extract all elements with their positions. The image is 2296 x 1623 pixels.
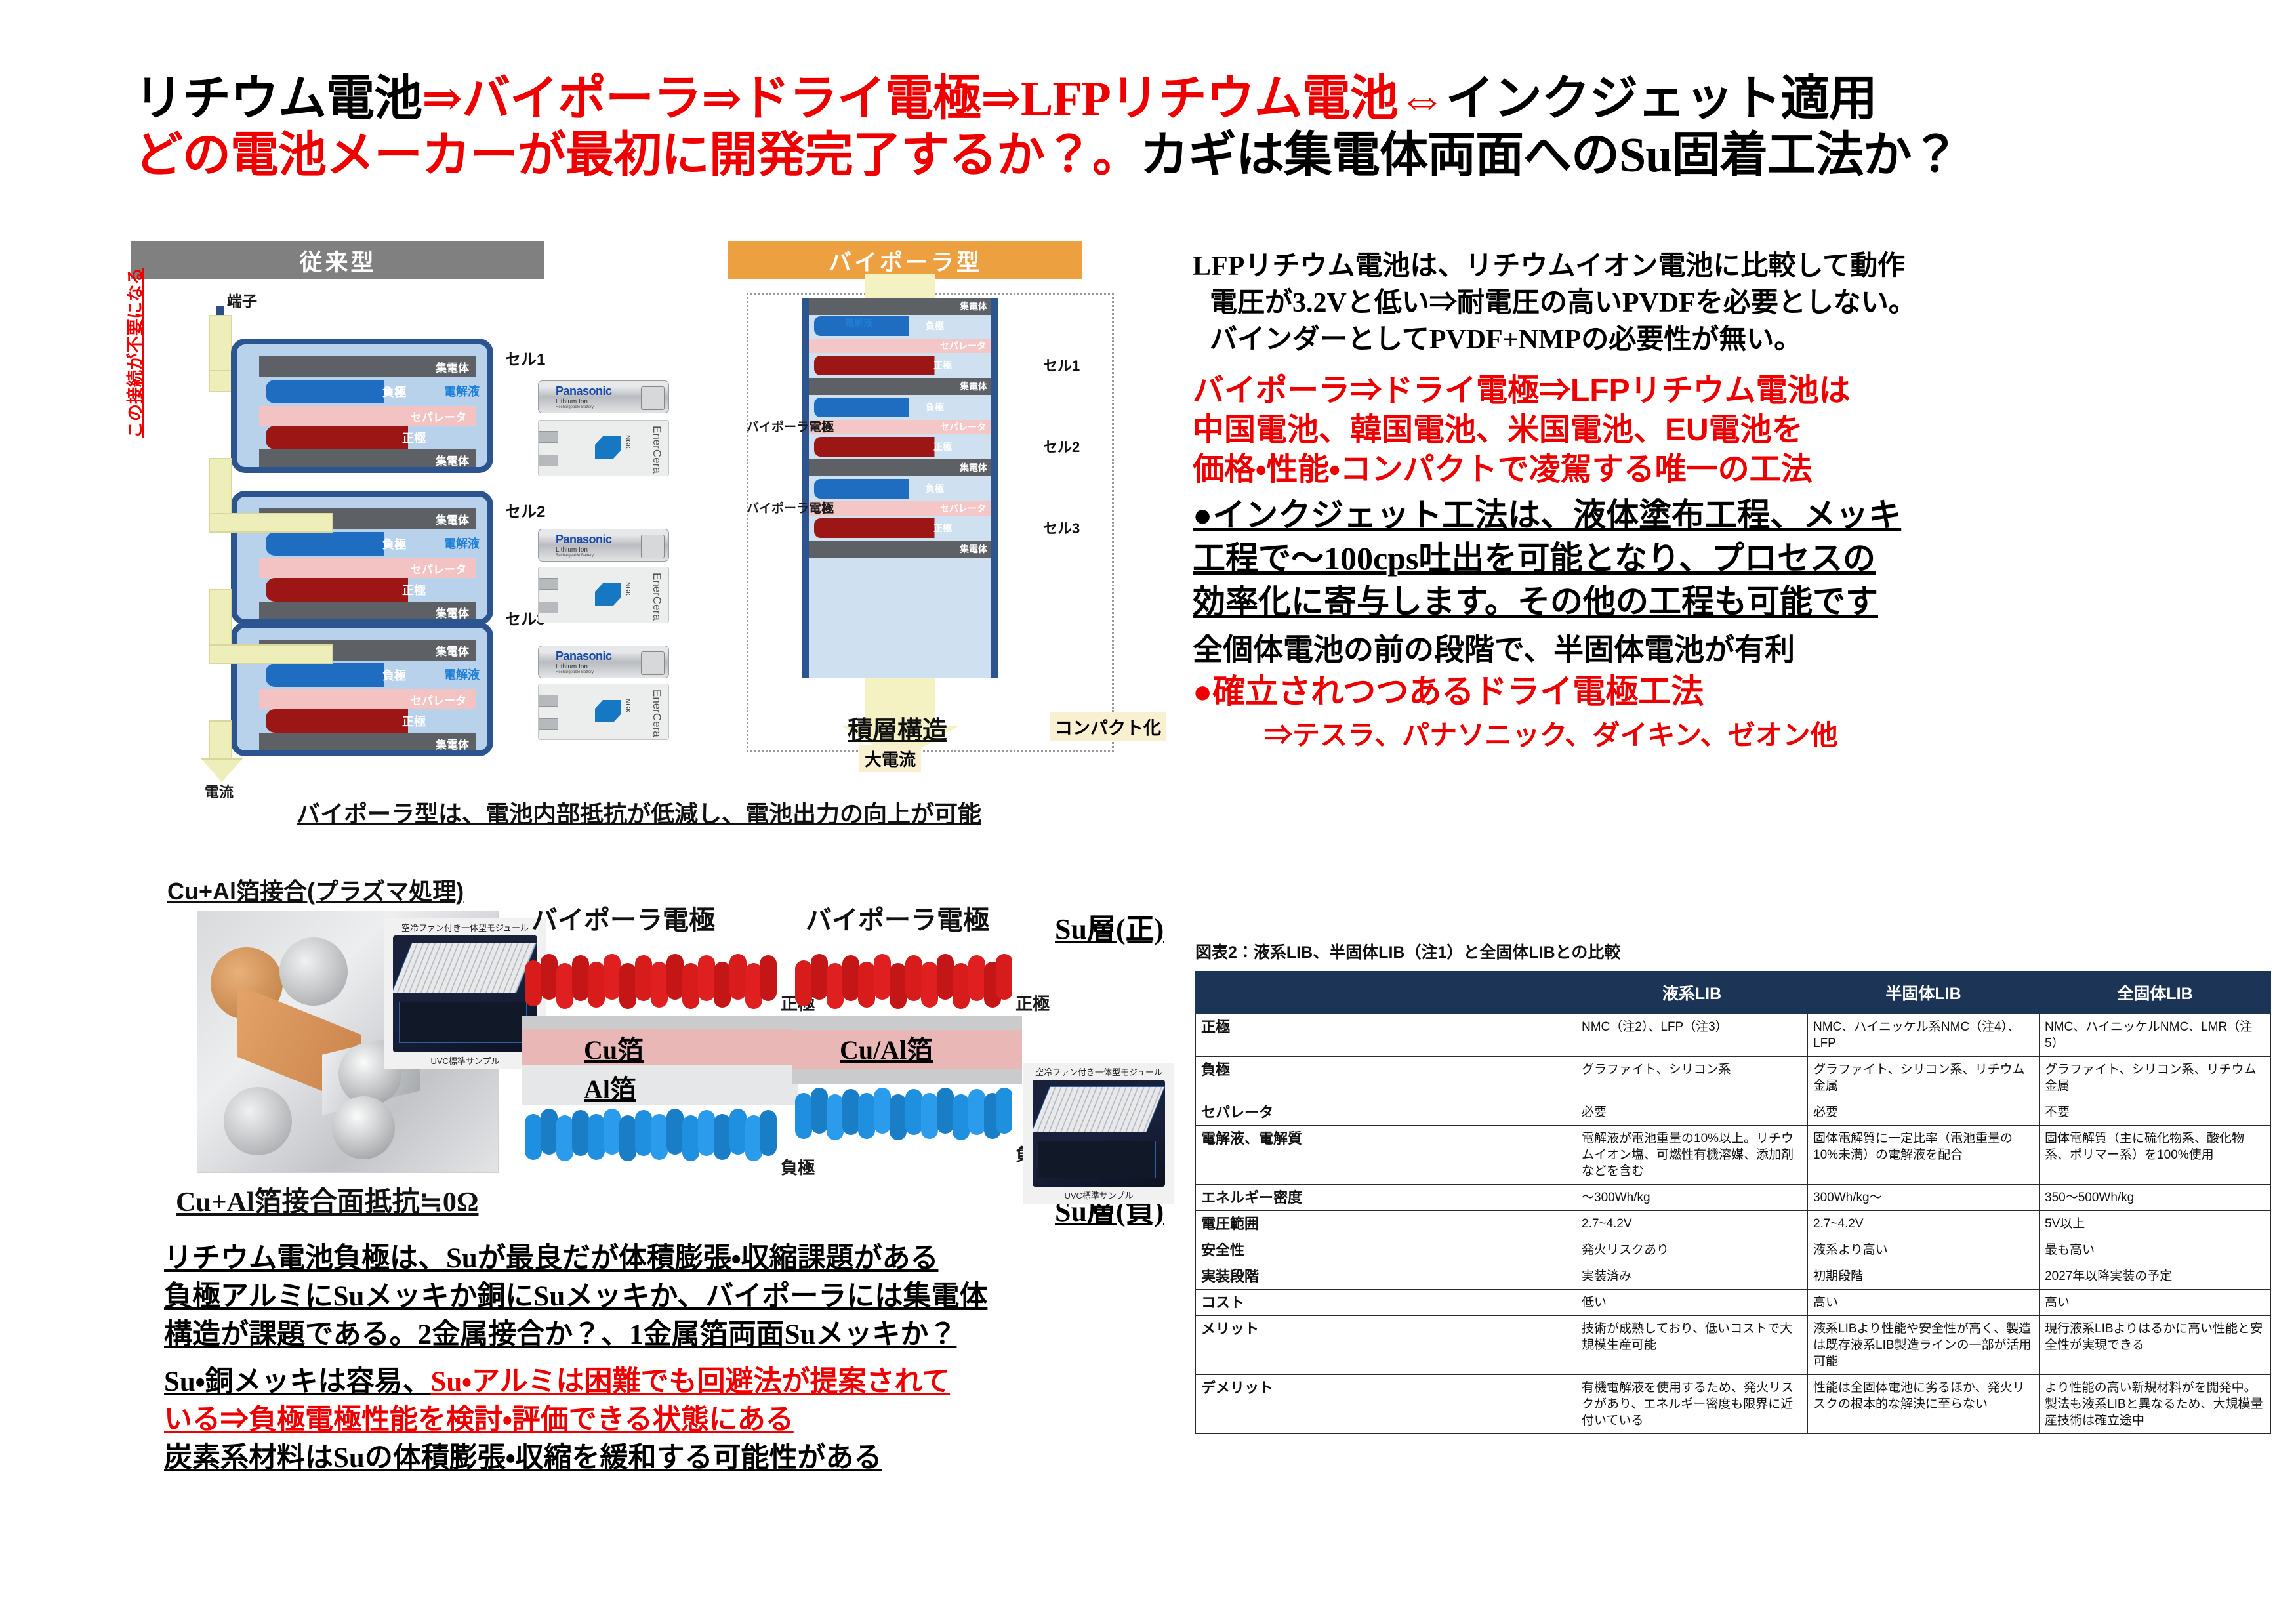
conventional-cell-1: 集電体 負極 電解液 セパレータ 正極 集電体 <box>231 339 493 473</box>
right-p3-line2: 工程で～100cps吐出を可能となり、プロセスの <box>1193 537 2282 580</box>
cell2-collector-bottom: 集電体 <box>259 602 476 623</box>
bp-anode-2: 負極 <box>814 398 986 417</box>
table-row-header: 正極 <box>1196 1014 1576 1057</box>
cual-foil-label: Cu/Al箔 <box>840 1029 933 1067</box>
table-row: 正極NMC（注2）、LFP（注3）NMC、ハイニッケル系NMC（注4）、LFPN… <box>1196 1014 2271 1057</box>
anode-particles-right <box>795 1088 1012 1151</box>
right-p1-line2: 電圧が3.2Vと低い⇒耐電圧の高いPVDFを必要としない。 <box>1193 285 2282 321</box>
table-row: セパレータ必要必要不要 <box>1196 1099 2271 1126</box>
table-cell: 2027年以降実装の予定 <box>2040 1263 2271 1290</box>
bipolar-electrode-title-right: バイポーラ電極 <box>806 899 989 937</box>
ngk-enercera-photo-3: NGK EnerCera <box>538 684 669 740</box>
bp-anode-3: 負極 <box>814 479 986 499</box>
ngk-logo-icon-3 <box>595 700 621 722</box>
table-cell: 5V以上 <box>2040 1211 2271 1237</box>
panasonic-sub-1: Lithium Ion <box>556 398 588 405</box>
uvc-caption-top-2: 空冷ファン付き一体型モジュール <box>1023 1065 1174 1078</box>
note-line-6: 炭素系材料はSuの体積膨張・収縮を緩和する可能性がある <box>164 1439 1187 1477</box>
cell1-collector-top: 集電体 <box>259 356 476 377</box>
bipolar-benefit-caption: バイポーラ型は、電池内部抵抗が低減し、電池出力の向上が可能 <box>297 795 981 829</box>
note-line-2: 負極アルミにSuメッキか銅にSuメッキか、バイポーラには集電体 <box>164 1278 1187 1316</box>
table-col-header-0 <box>1196 972 1576 1014</box>
bp-separator-2: セパレータ <box>809 420 991 434</box>
anode-label-left: 負極 <box>781 1155 815 1179</box>
table-row-header: 負極 <box>1196 1057 1576 1099</box>
right-commentary: LFPリチウム電池は、リチウムイオン電池に比較して動作 電圧が3.2Vと低い⇒耐… <box>1193 248 2282 754</box>
table-cell: 固体電解質（主に硫化物系、酸化物系、ポリマー系）を100%使用 <box>2040 1126 2271 1185</box>
right-p3-line1: ●インクジェット工法は、液体塗布工程、メッキ <box>1193 493 2282 537</box>
cell1-collector-bottom: 集電体 <box>259 449 476 470</box>
cell1-electrolyte-label: 電解液 <box>444 382 480 400</box>
table-cell: 最も高い <box>2040 1237 2271 1263</box>
ngk-logo-icon-1 <box>595 436 621 459</box>
table-row-header: 電解液、電解質 <box>1196 1126 1576 1185</box>
panasonic-brand-3: Panasonic <box>556 649 612 663</box>
right-p1-line1: LFPリチウム電池は、リチウムイオン電池に比較して動作 <box>1193 248 2282 285</box>
table-cell: 2.7~4.2V <box>1576 1211 1808 1237</box>
panasonic-cell-photo-1: Panasonic Lithium Ion Rechargeable Batte… <box>538 380 669 413</box>
stacked-structure-label: 積層構造 <box>848 710 947 746</box>
cell1-separator: セパレータ <box>259 406 476 426</box>
panasonic-cell-photo-3: Panasonic Lithium Ion Rechargeable Batte… <box>538 646 669 678</box>
table-cell: 低い <box>1576 1290 1808 1316</box>
ngk-tab-minus-3 <box>538 695 558 707</box>
table-row: メリット技術が成熟しており、低いコストで大規模生産可能液系LIBより性能や安全性… <box>1196 1316 2271 1375</box>
table-cell: 技術が成熟しており、低いコストで大規模生産可能 <box>1576 1316 1808 1375</box>
gray-layer-left-top <box>522 1016 798 1029</box>
table-cell: 液系LIBより性能や安全性が高く、製造は既存液系LIB製造ラインの一部が活用可能 <box>1808 1316 2040 1375</box>
note-line-1: リチウム電池負極は、Suが最良だが体積膨張・収縮課題がある <box>164 1240 1187 1278</box>
table-cell: 高い <box>1808 1290 2040 1316</box>
conventional-type-header: 従来型 <box>131 241 544 279</box>
su-layer-positive-label: Su層(正) <box>1055 905 1164 947</box>
battery-comparison-diagram: 従来型 バイポーラ型 この接続が不要になる 端子 集電体 負極 電解液 セパレー… <box>131 241 1181 773</box>
table-row-header: メリット <box>1196 1316 1576 1375</box>
page-title: リチウム電池⇒バイポーラ⇒ドライ電極⇒LFPリチウム電池⇔インクジェット適用 ど… <box>134 71 2181 184</box>
connection-unnecessary-note: この接続が不要になる <box>122 163 146 438</box>
note-line-4-black: Su・銅メッキは容易、 <box>164 1366 430 1397</box>
bp-separator-1: セパレータ <box>809 339 991 353</box>
table-cell: 液系より高い <box>1808 1237 2040 1263</box>
uvc-module-top-1 <box>393 943 537 993</box>
uvc-module-body-1 <box>393 935 537 1052</box>
aluminum-roll-icon <box>279 937 348 1006</box>
note-line-3: 構造が課題である。2金属接合か？、1金属箔両面Suメッキか？ <box>164 1316 1187 1354</box>
bp-anode-1: 負極 <box>814 316 986 336</box>
bp-collector-2: 集電体 <box>809 378 991 395</box>
table-cell: 2.7~4.2V <box>1808 1211 2040 1237</box>
interconnect-lead-1h <box>209 513 333 533</box>
ngk-tab-minus-2 <box>538 578 558 590</box>
panasonic-brand-2: Panasonic <box>556 533 612 546</box>
table-col-header-3: 全固体LIB <box>2040 972 2271 1014</box>
bipolar-electrode-label-2: バイポーラ電極 <box>747 499 834 516</box>
table-row: 電解液、電解質電解液が電池重量の10%以上。リチウムイオン塩、可燃性有機溶媒、添… <box>1196 1126 2271 1185</box>
cell-label-1: セル1 <box>505 346 545 369</box>
bp-cathode-2: 正極 <box>814 437 986 457</box>
ngk-brand-2: NGK <box>624 582 631 596</box>
ngk-tab-plus-1 <box>538 455 558 466</box>
output-roll-icon <box>224 1087 292 1155</box>
table-cell: 300Wh/kg～ <box>1808 1185 2040 1211</box>
bp-cell-label-3: セル3 <box>1043 517 1080 538</box>
bp-electrolyte-label: 電解液 <box>845 316 872 329</box>
title-l2-part1: どの電池メーカーが最初に開発完了するか？。 <box>134 129 1140 182</box>
table-cell: 初期段階 <box>1808 1263 2040 1290</box>
right-p5: ●確立されつつあるドライ電極工法 <box>1193 670 2282 712</box>
cell3-anode: 負極 <box>266 663 469 687</box>
table-row-header: セパレータ <box>1196 1099 1576 1126</box>
output-lead <box>209 720 232 760</box>
table-cell: グラファイト、シリコン系 <box>1576 1057 1808 1099</box>
cell2-separator: セパレータ <box>259 558 476 578</box>
cell1-cathode: 正極 <box>266 426 469 449</box>
table-cell: NMC（注2）、LFP（注3） <box>1576 1014 1808 1057</box>
lib-comparison-table-block: 図表2：液系LIB、半固体LIB（注1）と全固体LIBとの比較 液系LIB 半固… <box>1195 939 2271 1434</box>
table-cell: 現行液系LIBよりはるかに高い性能と安全性が実現できる <box>2040 1316 2271 1375</box>
lib-comparison-table: 液系LIB 半固体LIB 全固体LIB 正極NMC（注2）、LFP（注3）NMC… <box>1195 971 2271 1434</box>
table-row-header: 実装段階 <box>1196 1263 1576 1290</box>
table-row: 負極グラファイト、シリコン系グラファイト、シリコン系、リチウム金属グラファイト、… <box>1196 1057 2271 1099</box>
table-cell: 必要 <box>1576 1099 1808 1126</box>
cual-bonding-title: Cu+Al箔接合(プラズマ処理) <box>167 873 464 907</box>
table-col-header-1: 液系LIB <box>1576 972 1808 1014</box>
uvc-module-photo-2: 空冷ファン付き一体型モジュール UVC標準サンプル <box>1023 1063 1174 1204</box>
table-cell: 電解液が電池重量の10%以上。リチウムイオン塩、可燃性有機溶媒、添加剤などを含む <box>1576 1126 1808 1185</box>
current-arrow-icon <box>201 758 243 782</box>
cu-foil-band-left <box>522 1029 798 1065</box>
right-p2-line1: バイポーラ⇒ドライ電極⇒LFPリチウム電池は <box>1193 371 2282 411</box>
gray-layer-right-bottom <box>792 1069 1022 1084</box>
cell3-separator: セパレータ <box>259 689 476 709</box>
cell-label-2: セル2 <box>505 499 545 522</box>
bipolar-stack: 集電体 負極 セパレータ 正極 集電体 負極 セパレータ 正極 集電体 負極 セ… <box>802 298 998 678</box>
note-line-5: いる⇒負極電極性能を検討・評価できる状態にある <box>164 1401 1187 1439</box>
table-cell: より性能の高い新規材料がを開発中。製法も液系LIBと異なるため、大規模量産技術は… <box>2040 1375 2271 1434</box>
title-line-2: どの電池メーカーが最初に開発完了するか？。カギは集電体両面へのSu固着工法か？ <box>134 127 2181 184</box>
bipolar-electrode-label-1: バイポーラ電極 <box>747 417 834 435</box>
panasonic-sub2-1: Rechargeable Battery <box>556 405 594 409</box>
bottom-left-notes: リチウム電池負極は、Suが最良だが体積膨張・収縮課題がある 負極アルミにSuメッ… <box>164 1240 1187 1477</box>
cell1-anode: 負極 <box>266 380 469 403</box>
table-cell: 発火リスクあり <box>1576 1237 1808 1263</box>
ngk-brand-1: NGK <box>624 435 631 449</box>
ngk-tab-plus-2 <box>538 602 558 613</box>
table-cell: 固体電解質に一定比率（電池重量の10%未満）の電解液を配合 <box>1808 1126 2040 1185</box>
cu-foil-label: Cu箔 <box>584 1029 644 1067</box>
ngk-product-1: EnerCera <box>650 426 663 474</box>
note-line-4-red: Su・アルミは困難でも回避法が提案されて <box>430 1366 950 1397</box>
bp-collector-1: 集電体 <box>809 298 991 315</box>
bp-cathode-3: 正極 <box>814 518 986 538</box>
cathode-label-right: 正極 <box>1015 991 1050 1015</box>
uvc-caption-top-1: 空冷ファン付き一体型モジュール <box>384 921 546 934</box>
cell3-electrolyte-label: 電解液 <box>444 666 480 683</box>
ngk-enercera-photo-2: NGK EnerCera <box>538 567 669 623</box>
ngk-enercera-photo-1: NGK EnerCera <box>538 420 669 476</box>
title-l2-part2: カギは集電体両面へのSu固着工法か？ <box>1140 129 1959 182</box>
press-roll-bottom-icon <box>332 1096 395 1159</box>
conventional-cell-2: 集電体 負極 電解液 セパレータ 正極 集電体 <box>231 491 493 625</box>
ngk-logo-icon-2 <box>595 583 621 606</box>
note-line-4: Su・銅メッキは容易、Su・アルミは困難でも回避法が提案されて <box>164 1363 1187 1401</box>
cell2-anode: 負極 <box>266 532 469 556</box>
interconnect-lead-2h <box>209 644 333 664</box>
large-current-label: 大電流 <box>859 745 921 772</box>
bp-cathode-1: 正極 <box>814 356 986 375</box>
compact-label: コンパクト化 <box>1050 712 1166 741</box>
table-body: 正極NMC（注2）、LFP（注3）NMC、ハイニッケル系NMC（注4）、LFPN… <box>1196 1014 2271 1434</box>
table-cell: 不要 <box>2040 1099 2271 1126</box>
table-cell: NMC、ハイニッケル系NMC（注4）、LFP <box>1808 1014 2040 1057</box>
uvc-module-side-1 <box>399 1002 527 1043</box>
table-cell: 350～500Wh/kg <box>2040 1185 2271 1211</box>
table-row: コスト低い高い高い <box>1196 1290 2271 1316</box>
table-cell: 実装済み <box>1576 1263 1808 1290</box>
gray-layer-right-top <box>792 1016 1022 1030</box>
table-row: エネルギー密度～300Wh/kg300Wh/kg～350～500Wh/kg <box>1196 1185 2271 1211</box>
recycle-icon-1 <box>641 386 665 410</box>
table-cell: ～300Wh/kg <box>1576 1185 1808 1211</box>
conventional-cell-3: 集電体 負極 電解液 セパレータ 正極 集電体 <box>231 622 493 756</box>
table-row-header: 電圧範囲 <box>1196 1211 1576 1237</box>
title-l1-part2: ⇒バイポーラ⇒ドライ電極⇒LFPリチウム電池⇔ <box>422 72 1446 126</box>
current-label: 電流 <box>205 781 234 802</box>
ngk-product-2: EnerCera <box>650 573 663 621</box>
ngk-tab-minus-1 <box>538 431 558 443</box>
table-row: 安全性発火リスクあり液系より高い最も高い <box>1196 1237 2271 1263</box>
panasonic-sub2-3: Rechargeable Battery <box>556 670 594 674</box>
panasonic-sub-3: Lithium Ion <box>556 663 588 670</box>
bp-collector-4: 集電体 <box>809 541 991 558</box>
cell2-cathode: 正極 <box>266 578 469 602</box>
uvc-module-side-2 <box>1038 1141 1156 1178</box>
bp-collector-3: 集電体 <box>809 459 991 476</box>
cathode-particles-right <box>795 951 1012 1014</box>
right-p2-line3: 価格・性能・コンパクトで凌駕する唯一の工法 <box>1193 450 2282 489</box>
cell2-electrolyte-label: 電解液 <box>444 535 480 552</box>
table-cell: 必要 <box>1808 1099 2040 1126</box>
right-p3-line3: 効率化に寄与します。その他の工程も可能です <box>1193 580 2282 623</box>
terminal-label: 端子 <box>227 289 257 311</box>
table-cell: グラファイト、シリコン系、リチウム金属 <box>2040 1057 2271 1099</box>
panasonic-sub-2: Lithium Ion <box>556 546 588 554</box>
al-foil-band-left <box>522 1065 798 1105</box>
table-row: デメリット有機電解液を使用するため、発火リスクがあり、エネルギー密度も限界に近付… <box>1196 1375 2271 1434</box>
ngk-product-3: EnerCera <box>650 689 663 737</box>
table-cell: 性能は全固体電池に劣るほか、発火リスクの根本的な解決に至らない <box>1808 1375 2040 1434</box>
uvc-module-body-2 <box>1033 1080 1165 1187</box>
table-row: 電圧範囲2.7~4.2V2.7~4.2V5V以上 <box>1196 1211 2271 1237</box>
recycle-icon-2 <box>641 535 665 558</box>
bp-separator-3: セパレータ <box>809 501 991 516</box>
ngk-brand-3: NGK <box>624 699 631 713</box>
right-p2-line2: 中国電池、韓国電池、米国電池、EU電池を <box>1193 411 2282 450</box>
table-cell: 高い <box>2040 1290 2271 1316</box>
table-col-header-2: 半固体LIB <box>1808 972 2040 1014</box>
recycle-icon-3 <box>641 651 665 675</box>
bp-cell-label-1: セル1 <box>1043 354 1080 375</box>
table-row-header: 安全性 <box>1196 1237 1576 1263</box>
table-caption: 図表2：液系LIB、半固体LIB（注1）と全固体LIBとの比較 <box>1195 939 2271 963</box>
uvc-module-top-2 <box>1033 1086 1165 1132</box>
cell3-collector-bottom: 集電体 <box>259 733 476 754</box>
bipolar-electrode-title-left: バイポーラ電極 <box>531 899 715 937</box>
right-p4: 全個体電池の前の段階で、半固体電池が有利 <box>1193 630 2282 670</box>
table-cell: グラファイト、シリコン系、リチウム金属 <box>1808 1057 2040 1099</box>
title-l1-part3: インクジェット適用 <box>1446 72 1877 126</box>
al-foil-label: Al箔 <box>584 1068 636 1106</box>
panasonic-sub2-2: Rechargeable Battery <box>556 554 594 558</box>
cathode-particles-left <box>525 951 781 1014</box>
anode-particles-left <box>525 1109 781 1172</box>
ngk-tab-plus-3 <box>538 718 558 730</box>
cell3-cathode: 正極 <box>266 709 469 733</box>
right-p1-line3: バインダーとしてPVDF+NMPの必要性が無い。 <box>1193 321 2282 358</box>
table-row-header: コスト <box>1196 1290 1576 1316</box>
title-l1-part1: リチウム電池 <box>134 72 422 126</box>
cual-resistance-note: Cu+Al箔接合面抵抗≒0Ω <box>176 1180 479 1220</box>
bp-cell-label-2: セル2 <box>1043 436 1080 457</box>
panasonic-cell-photo-2: Panasonic Lithium Ion Rechargeable Batte… <box>538 529 669 562</box>
panasonic-brand-1: Panasonic <box>556 384 612 398</box>
title-line-1: リチウム電池⇒バイポーラ⇒ドライ電極⇒LFPリチウム電池⇔インクジェット適用 <box>134 71 2181 127</box>
table-header-row: 液系LIB 半固体LIB 全固体LIB <box>1196 972 2271 1014</box>
table-cell: 有機電解液を使用するため、発火リスクがあり、エネルギー密度も限界に近付いている <box>1576 1375 1808 1434</box>
table-row: 実装段階実装済み初期段階2027年以降実装の予定 <box>1196 1263 2271 1290</box>
right-p6: ⇒テスラ、パナソニック、ダイキン、ゼオン他 <box>1193 716 2282 754</box>
table-cell: NMC、ハイニッケルNMC、LMR（注5） <box>2040 1014 2271 1057</box>
table-row-header: デメリット <box>1196 1375 1576 1434</box>
table-row-header: エネルギー密度 <box>1196 1185 1576 1211</box>
uvc-caption-bottom-2: UVC標準サンプル <box>1023 1189 1174 1201</box>
